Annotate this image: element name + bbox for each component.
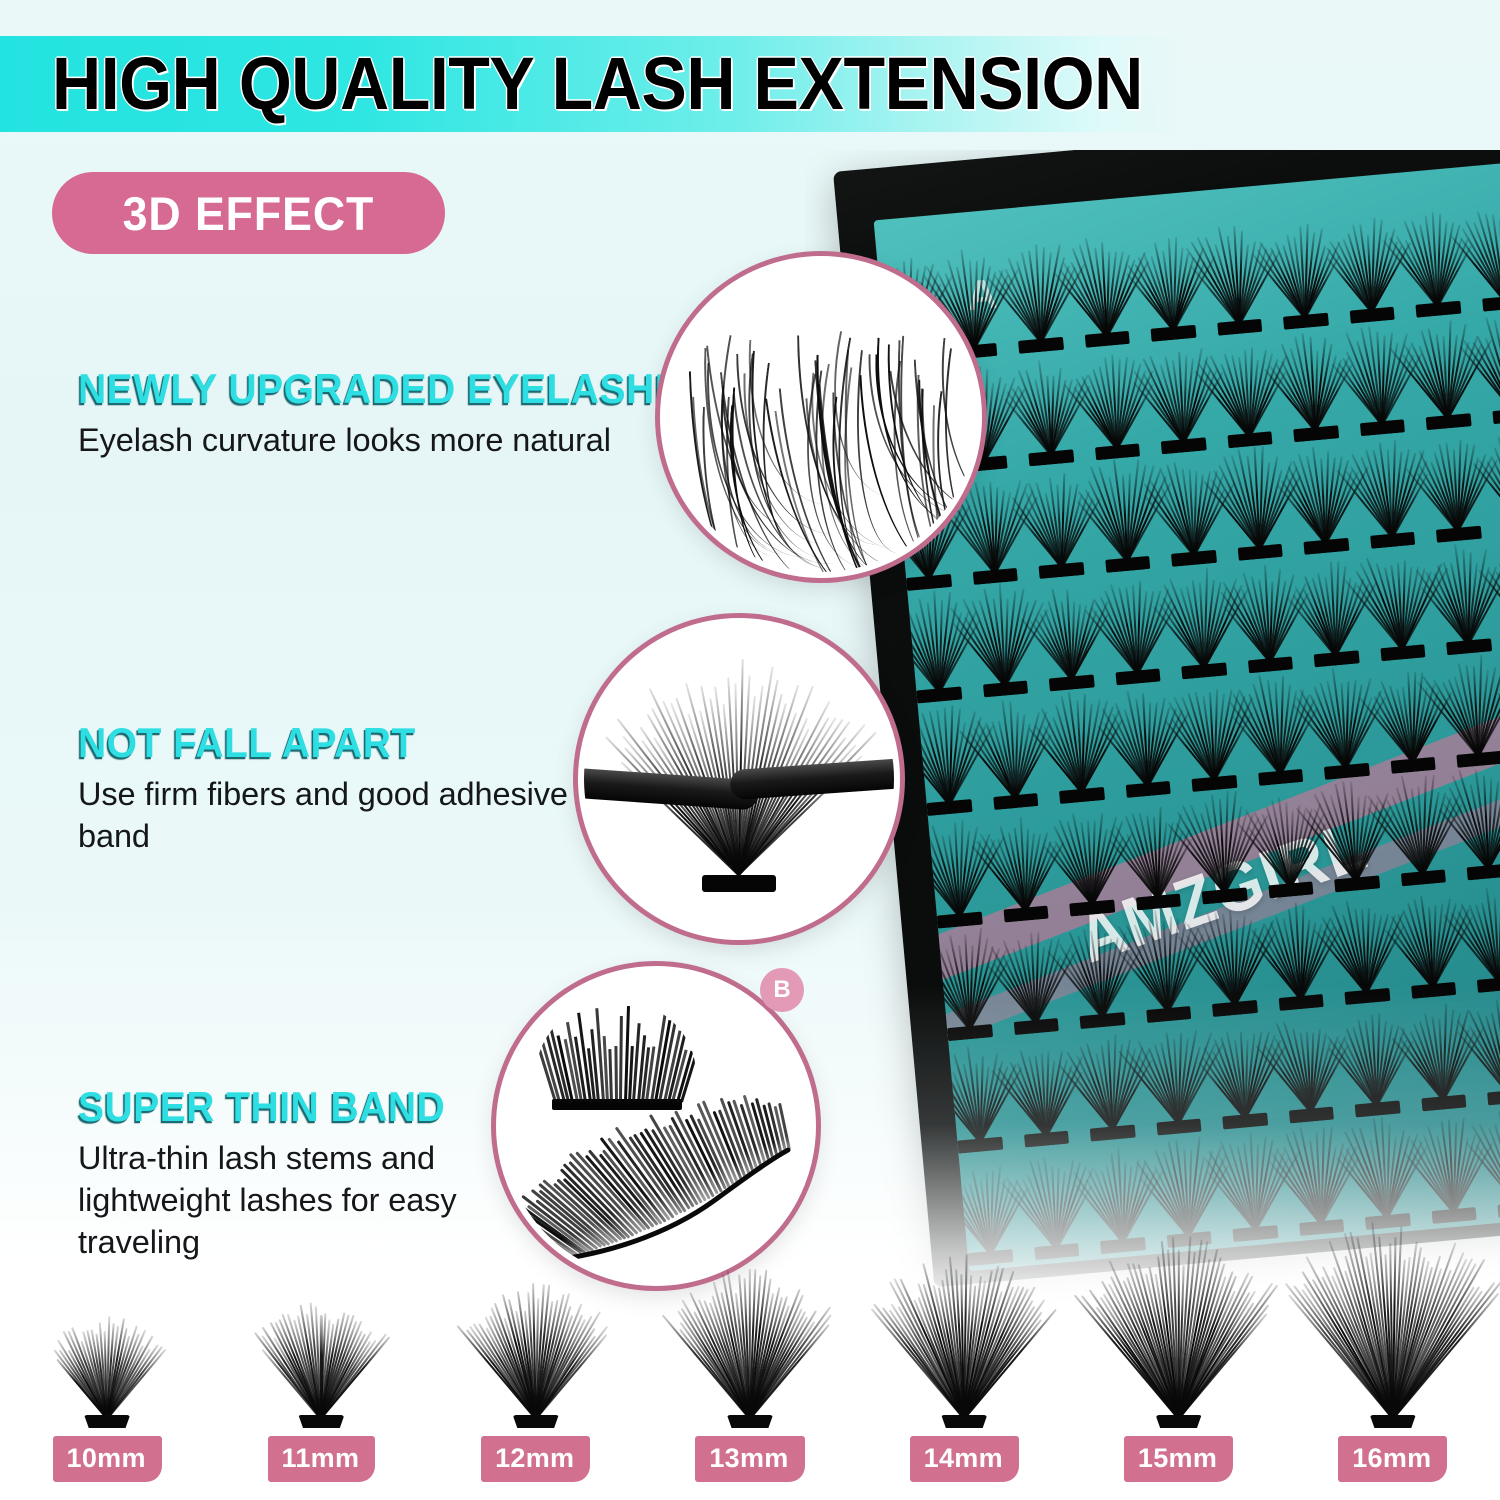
lash-cluster [1213,1126,1288,1243]
page-title: HIGH QUALITY LASH EXTENSION [52,47,1143,121]
lash-fan [1005,685,1006,686]
size-sample-item: 10mm [0,1240,214,1500]
lash-cluster [1284,438,1359,555]
lash-fan [1179,1123,1180,1124]
lash-fan [1388,1218,1389,1219]
lash-fan [1113,1130,1114,1131]
lash-band-base [84,1415,130,1428]
lash-cluster-sample [32,1316,182,1428]
lash-fan [1250,436,1251,437]
lash-fan [1489,868,1490,869]
lash-fan [1128,561,1129,562]
lash-fan [1245,1117,1246,1118]
lash-fan [1239,324,1240,325]
lash-fan [739,874,740,875]
lash-fan [1306,318,1307,319]
lash-cluster [1162,563,1237,680]
lash-fan [1061,567,1062,568]
lash-fan [1158,898,1159,899]
feature-block-newly-upgraded: NEWLY UPGRADED EYELASHES Eyelash curvatu… [78,368,678,462]
lash-cluster [897,587,972,704]
lash-cluster [1305,663,1380,780]
lash-cluster [1396,201,1471,318]
lash-cluster [1437,651,1500,768]
lash-cluster-sample [461,1288,611,1428]
lash-fan [980,1142,981,1143]
feature-block-super-thin-band: SUPER THIN BAND Ultra-thin lash stems an… [78,1086,508,1264]
lash-fan [1214,780,1215,781]
lash-fan [1082,792,1083,793]
size-sample-item: 12mm [429,1240,643,1500]
lash-cluster [1081,1138,1156,1255]
lash-fan [1092,904,1093,905]
lash-fan [985,460,986,461]
lash-fan [995,573,996,574]
lash-fan [1413,762,1414,763]
lash-cluster [1218,444,1293,561]
lash-cluster [1075,344,1150,461]
lash-cluster [1340,320,1415,437]
lash-fan [1235,1005,1236,1006]
tray-row-marker-b: B [760,968,804,1012]
lash-cluster [1274,326,1349,443]
lash-fan [970,1029,971,1030]
size-tag: 14mm [910,1436,1019,1482]
lash-fan [1169,1011,1170,1012]
lash-cluster [1040,687,1115,804]
lash-cluster [1009,350,1084,467]
lash-cluster [1264,213,1339,330]
lash-fan [1458,531,1459,532]
lash-fan [1433,987,1434,988]
lash-cluster [974,693,1049,810]
lash-fan [1173,330,1174,331]
lash-fan [1194,555,1195,556]
lash-cluster [908,699,983,816]
size-sample-item: 14mm [857,1240,1071,1500]
size-sample-item: 13mm [643,1240,857,1500]
effect-badge-label: 3D EFFECT [123,186,375,241]
lash-cluster [1096,569,1171,686]
feature-title: SUPER THIN BAND [78,1086,478,1129]
lash-fan [1372,312,1373,313]
lash-fan [1357,880,1358,881]
lash-fan [1326,543,1327,544]
lash-cluster [1183,788,1258,905]
lash-cluster [1447,764,1500,881]
lash-fan [929,579,930,580]
feature-block-not-fall-apart: NOT FALL APART Use firm fibers and good … [78,722,618,858]
lash-band-base [1156,1415,1202,1428]
feature-title: NEWLY UPGRADED EYELASHES [78,368,636,411]
effect-badge: 3D EFFECT [52,172,445,254]
lash-fan [1321,1224,1322,1225]
size-sample-item: 11mm [214,1240,428,1500]
lash-fan [1443,1099,1444,1100]
size-tag: 16mm [1338,1436,1447,1482]
lash-cluster [964,581,1039,698]
lash-fan [1301,999,1302,1000]
lash-cluster [1280,1120,1355,1237]
lash-cluster [1269,1007,1344,1124]
lash-fan [949,804,950,805]
lash-fan [1377,1105,1378,1106]
lash-cluster [928,925,1003,1042]
lash-fan [1336,655,1337,656]
lash-fan [1260,549,1261,550]
lash-cluster [1050,800,1125,917]
lash-fan [1291,886,1292,887]
lash-cluster [1193,900,1268,1017]
lash-fan [1270,661,1271,662]
lash-cluster [1259,894,1334,1011]
lash-band-base [298,1415,344,1428]
lash-cluster [1294,551,1369,668]
size-tag: 13mm [695,1436,804,1482]
lash-cluster [1137,1019,1212,1136]
lash-fan [1255,1230,1256,1231]
lash-cluster [1325,888,1400,1005]
header-banner: HIGH QUALITY LASH EXTENSION [0,36,1180,132]
lash-fan [1204,667,1205,668]
lash-fan [1392,537,1393,538]
lash-cluster [1315,776,1390,893]
lash-cluster [1142,338,1217,455]
lash-cluster [1203,1013,1278,1130]
lash-fan [1469,643,1470,644]
lash-cluster [1065,231,1140,348]
size-tag: 11mm [268,1436,376,1482]
lash-fan [1316,430,1317,431]
lash-cluster [1152,450,1227,567]
lash-fan [1036,1023,1037,1024]
magnifier-thin-band [496,966,816,1286]
lash-fan [1117,448,1118,449]
lash-fan [1423,874,1424,875]
lash-cluster [1361,545,1436,662]
infographic-page: HIGH QUALITY LASH EXTENSION 3D EFFECT AM… [0,0,1500,1500]
lash-cluster [938,1037,1013,1154]
lash-fan [1148,786,1149,787]
lash-fan [1224,892,1225,893]
lash-fan [1183,442,1184,443]
lash-cluster-sample [675,1273,825,1428]
lash-cluster [918,812,993,929]
band-hair [614,1046,617,1102]
lash-cluster [1147,1132,1222,1249]
lash-cluster [1249,782,1324,899]
lash-cluster [1350,432,1425,549]
lash-fan [1016,798,1017,799]
lash-cluster [1330,207,1405,324]
lash-fan [1382,424,1383,425]
curved-lash-fibers [666,262,976,572]
band-hair [619,1016,622,1102]
size-samples-row: 10mm11mm12mm13mm14mm15mm16mm [0,1240,1500,1500]
lash-band [702,875,776,892]
lash-band-base [727,1415,773,1428]
lash-cluster [1417,426,1492,543]
lash-fan [960,916,961,917]
lash-cluster [1346,1114,1421,1231]
lash-fan [1051,454,1052,455]
lash-cluster [1198,219,1273,336]
lash-cluster [1381,770,1456,887]
magnifier-durability [578,618,900,940]
lash-cluster [1030,575,1105,692]
lash-fan [1454,1212,1455,1213]
size-sample-item: 15mm [1071,1240,1285,1500]
lash-fan [1046,1136,1047,1137]
lash-cluster [1391,882,1466,999]
lash-cluster [1371,657,1446,774]
lash-cluster [1020,462,1095,579]
size-tag: 15mm [1124,1436,1233,1482]
lash-band-base [1370,1415,1416,1428]
lash-fan [1138,673,1139,674]
lash-cluster [1228,557,1303,674]
lash-band-base [941,1415,987,1428]
lash-fan [1107,336,1108,337]
tray-lash-rows [874,157,1500,220]
lash-cluster [1131,225,1206,342]
lash-fan [939,691,940,692]
magnifier-curvature [660,256,982,578]
lash-fan [1402,649,1403,650]
lash-cluster [1005,1031,1080,1148]
lash-cluster [1427,539,1500,656]
lash-cluster [1127,906,1202,1023]
lash-cluster-sample [889,1259,1039,1428]
lash-fan [1072,679,1073,680]
lash-fan [1041,342,1042,343]
feature-title: NOT FALL APART [78,722,580,765]
band-hair [608,1049,612,1102]
feature-description: Eyelash curvature looks more natural [78,420,678,462]
lash-cluster [1172,675,1247,792]
lash-cluster-sample [246,1302,396,1428]
lash-cluster [994,919,1069,1036]
lash-cluster [1208,332,1283,449]
lash-cluster [999,237,1074,354]
lash-cluster [1412,1107,1487,1224]
lash-cluster [1335,1001,1410,1118]
lash-cluster-sample [1104,1245,1254,1428]
lash-fan [1311,1111,1312,1112]
lash-fan [1026,910,1027,911]
size-tag: 12mm [481,1436,590,1482]
lash-fan [1280,774,1281,775]
lash-cluster [1239,669,1314,786]
lash-cluster [1116,794,1191,911]
lash-fan [1479,756,1480,757]
lash-cluster [1086,456,1161,573]
lash-cluster [1106,681,1181,798]
lash-cluster [984,806,1059,923]
lash-cluster [1402,995,1477,1112]
lash-fan [1102,1017,1103,1018]
size-sample-item: 16mm [1286,1240,1500,1500]
lash-cluster [1406,314,1481,431]
lash-cluster [1060,913,1135,1030]
lash-cluster-sample [1318,1240,1468,1428]
lash-fan [1367,993,1368,994]
lash-cluster [1071,1025,1146,1142]
feature-description: Use firm fibers and good adhesive band [78,774,618,858]
size-tag: 10mm [53,1436,162,1482]
lash-band-base [513,1415,559,1428]
lash-fan [1347,768,1348,769]
lash-fan [1438,306,1439,307]
lash-fan [1448,418,1449,419]
